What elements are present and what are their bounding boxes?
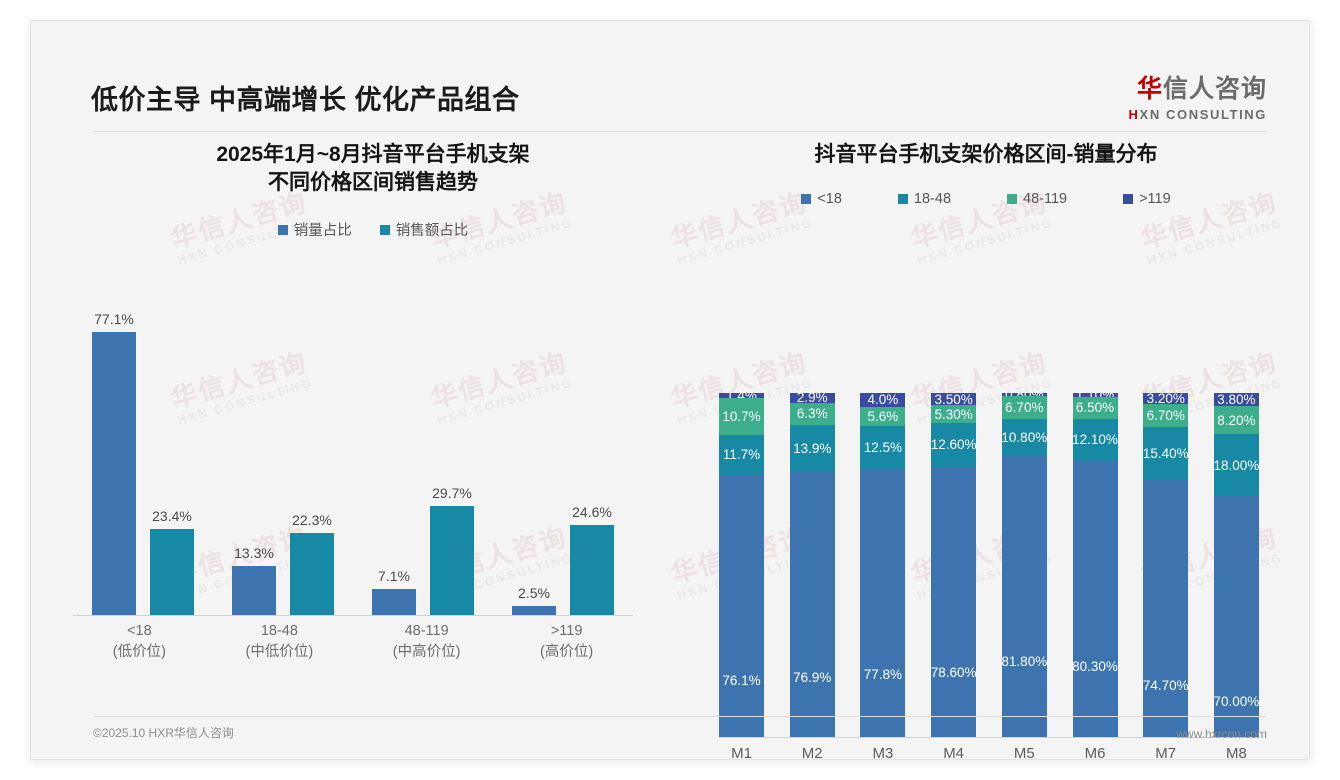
stack-segment[interactable]: 70.00% (1214, 496, 1259, 737)
bar-item[interactable]: 29.7% (430, 485, 474, 615)
stack-segment-label: 4.0% (868, 393, 899, 407)
right-chart-legend: <1818-4848-119>119 (691, 191, 1281, 207)
bar-item[interactable]: 77.1% (92, 311, 136, 615)
stack-segment-label: 12.10% (1073, 432, 1118, 447)
bar-item[interactable]: 13.3% (232, 545, 276, 615)
bar-value-label: 23.4% (152, 508, 192, 524)
legend-swatch-icon (1123, 194, 1133, 204)
stack-segment[interactable]: 11.7% (719, 435, 764, 475)
left-chart-title: 2025年1月~8月抖音平台手机支架 不同价格区间销售趋势 (73, 141, 673, 197)
footer-website[interactable]: www.hxrcon.com (1176, 727, 1267, 741)
stack-segment-label: 77.8% (864, 667, 902, 682)
stack-segment[interactable]: 5.6% (860, 407, 905, 426)
x-axis-label-sub: (中高价位) (393, 642, 461, 663)
slide-header: 低价主导 中高端增长 优化产品组合 华信人咨询 HXN CONSULTING (31, 21, 1309, 113)
x-axis-label: M2 (790, 743, 835, 760)
stack-segment[interactable]: 12.60% (931, 423, 976, 466)
stack-segment[interactable]: 12.5% (860, 426, 905, 469)
left-chart-title-line2: 不同价格区间销售趋势 (113, 169, 633, 197)
stack-segment[interactable]: 13.9% (790, 425, 835, 473)
stack-segment[interactable]: 3.20% (1143, 393, 1188, 404)
bar-value-label: 13.3% (234, 545, 274, 561)
logo-english: HXN CONSULTING (1129, 107, 1267, 122)
grouped-bar-chart: 77.1%23.4%13.3%22.3%7.1%29.7%2.5%24.6% (73, 276, 633, 616)
bar[interactable] (290, 533, 334, 615)
stack-segment-label: 74.70% (1143, 678, 1188, 693)
legend-swatch-icon (898, 194, 908, 204)
stack-segment[interactable]: 76.1% (719, 475, 764, 737)
stack-segment-label: 5.6% (868, 409, 899, 424)
left-chart-title-line1: 2025年1月~8月抖音平台手机支架 (113, 141, 633, 169)
stack-segment[interactable]: 4.0% (860, 393, 905, 407)
bar[interactable] (430, 506, 474, 615)
bar-item[interactable]: 24.6% (570, 504, 614, 615)
legend-item[interactable]: 18-48 (898, 191, 951, 207)
x-axis-line-left (73, 615, 633, 616)
x-axis-label: 48-119(中高价位) (393, 621, 461, 663)
stack-segment-label: 18.00% (1214, 458, 1259, 473)
x-axis-label: M4 (931, 743, 976, 760)
bar-stack[interactable]: 3.80%8.20%18.00%70.00% (1214, 393, 1259, 737)
stack-segment-label: 6.70% (1005, 400, 1043, 415)
x-axis-label-main: 48-119 (393, 621, 461, 642)
legend-label: 销量占比 (294, 219, 352, 240)
bar-stack[interactable]: 4.0%5.6%12.5%77.8% (860, 393, 905, 737)
legend-label: 18-48 (914, 191, 951, 207)
stack-segment[interactable]: 80.30% (1073, 461, 1118, 737)
stack-segment-label: 10.7% (722, 409, 760, 424)
logo-chinese-rest: 信人咨询 (1163, 75, 1267, 103)
stack-segment-label: 8.20% (1217, 413, 1255, 428)
stack-segment-label: 76.9% (793, 670, 831, 685)
x-axis-label-sub: (低价位) (113, 642, 166, 663)
page-title: 低价主导 中高端增长 优化产品组合 (91, 78, 520, 117)
stack-segment-label: 3.80% (1217, 393, 1255, 406)
header-divider (93, 131, 1267, 132)
stack-segment-label: 78.60% (931, 665, 976, 680)
bar-value-label: 7.1% (378, 568, 410, 584)
legend-label: <18 (817, 191, 842, 207)
x-axis-labels-left: <18(低价位)18-48(中低价位)48-119(中高价位)>119(高价位) (73, 621, 633, 663)
bar[interactable] (150, 529, 194, 615)
bar[interactable] (92, 332, 136, 615)
stack-segment[interactable]: 12.10% (1073, 419, 1118, 461)
stack-segment-label: 13.9% (793, 441, 831, 456)
x-axis-label: >119(高价位) (540, 621, 593, 663)
x-axis-label: 18-48(中低价位) (246, 621, 314, 663)
bar[interactable] (232, 566, 276, 615)
stack-segment[interactable]: 8.20% (1214, 406, 1259, 434)
stack-segment[interactable]: 3.50% (931, 393, 976, 405)
stack-segment[interactable]: 5.30% (931, 405, 976, 423)
x-axis-label: M3 (860, 743, 905, 760)
bar-item[interactable]: 22.3% (290, 512, 334, 615)
stack-segment[interactable]: 3.80% (1214, 393, 1259, 406)
bar-stacks: 1.4%10.7%11.7%76.1%2.9%6.3%13.9%76.9%4.0… (719, 393, 1259, 737)
stack-segment-label: 6.70% (1147, 408, 1185, 423)
stack-segment[interactable]: 2.9% (790, 393, 835, 403)
stack-segment[interactable]: 6.50% (1073, 397, 1118, 419)
bar-stack[interactable]: 0.80%6.70%10.80%81.80% (1002, 393, 1047, 737)
stack-segment[interactable]: 78.60% (931, 467, 976, 737)
slide: 低价主导 中高端增长 优化产品组合 华信人咨询 HXN CONSULTING 华… (30, 20, 1310, 760)
x-axis-label: <18(低价位) (113, 621, 166, 663)
legend-item[interactable]: >119 (1123, 191, 1171, 207)
stack-segment-label: 70.00% (1214, 694, 1259, 709)
legend-item[interactable]: 48-119 (1007, 191, 1067, 207)
stack-segment[interactable]: 10.7% (719, 398, 764, 435)
x-axis-label-sub: (中低价位) (246, 642, 314, 663)
stack-segment-label: 2.9% (797, 393, 828, 403)
bar-group: 7.1%29.7% (372, 485, 474, 615)
x-axis-label: M1 (719, 743, 764, 760)
x-axis-label: M7 (1143, 743, 1188, 760)
stack-segment-label: 12.60% (931, 437, 976, 452)
bar-stack[interactable]: 3.20%6.70%15.40%74.70% (1143, 393, 1188, 737)
legend-item[interactable]: 销量占比 (278, 219, 352, 240)
right-chart-panel: 抖音平台手机支架价格区间-销量分布 <1818-4848-119>119 1.4… (691, 141, 1281, 701)
legend-swatch-icon (801, 194, 811, 204)
stack-segment-label: 6.3% (797, 406, 828, 421)
legend-item[interactable]: 销售额占比 (380, 219, 469, 240)
logo-chinese: 华信人咨询 (1129, 77, 1267, 102)
x-axis-label: M6 (1073, 743, 1118, 760)
bar-group: 2.5%24.6% (512, 504, 614, 615)
bar-stack[interactable]: 2.9%6.3%13.9%76.9% (790, 393, 835, 737)
bar-value-label: 24.6% (572, 504, 612, 520)
legend-label: 销售额占比 (396, 219, 469, 240)
bar[interactable] (372, 589, 416, 615)
stack-segment-label: 81.80% (1002, 654, 1047, 669)
stack-segment[interactable]: 6.70% (1002, 396, 1047, 419)
stack-segment-label: 76.1% (722, 673, 760, 688)
legend-swatch-icon (380, 225, 390, 235)
x-axis-label: M8 (1214, 743, 1259, 760)
x-axis-label: M5 (1002, 743, 1047, 760)
bar-stack[interactable]: 1.4%10.7%11.7%76.1% (719, 393, 764, 737)
stack-segment-label: 5.30% (934, 407, 972, 422)
bar-value-label: 22.3% (292, 512, 332, 528)
stack-segment-label: 15.40% (1143, 446, 1188, 461)
legend-label: 48-119 (1023, 191, 1067, 207)
stack-segment-label: 3.50% (934, 393, 972, 405)
x-axis-label-sub: (高价位) (540, 642, 593, 663)
stack-segment[interactable]: 6.3% (790, 403, 835, 425)
x-axis-label-main: >119 (540, 621, 593, 642)
stack-segment[interactable]: 18.00% (1214, 434, 1259, 496)
stack-segment-label: 10.80% (1002, 430, 1047, 445)
x-axis-label-main: 18-48 (246, 621, 314, 642)
legend-swatch-icon (278, 225, 288, 235)
x-axis-labels-right: M1M2M3M4M5M6M7M8 (719, 743, 1259, 760)
stack-segment[interactable]: 10.80% (1002, 419, 1047, 456)
stack-segment-label: 3.20% (1147, 393, 1185, 404)
stack-segment[interactable]: 77.8% (860, 469, 905, 737)
stack-segment-label: 11.7% (723, 447, 760, 462)
right-chart-title: 抖音平台手机支架价格区间-销量分布 (691, 141, 1281, 169)
logo-english-rest: XN CONSULTING (1140, 107, 1267, 122)
stack-segment[interactable]: 81.80% (1002, 456, 1047, 737)
bar-group: 77.1%23.4% (92, 311, 194, 615)
left-chart-legend: 销量占比销售额占比 (73, 219, 673, 240)
logo-chinese-accent: 华 (1137, 75, 1163, 103)
bar-stack[interactable]: 3.50%5.30%12.60%78.60% (931, 393, 976, 737)
footer-divider (93, 716, 1267, 717)
bar-item[interactable]: 7.1% (372, 568, 416, 615)
stack-segment[interactable]: 6.70% (1143, 404, 1188, 427)
bar-stack[interactable]: 1.10%6.50%12.10%80.30% (1073, 393, 1118, 737)
legend-swatch-icon (1007, 194, 1017, 204)
bar-value-label: 2.5% (518, 585, 550, 601)
bar[interactable] (570, 525, 614, 615)
x-axis-label-main: <18 (113, 621, 166, 642)
stack-segment[interactable]: 76.9% (790, 472, 835, 737)
bar[interactable] (512, 606, 556, 615)
legend-label: >119 (1139, 191, 1171, 207)
bar-item[interactable]: 23.4% (150, 508, 194, 615)
bar-item[interactable]: 2.5% (512, 585, 556, 615)
company-logo: 华信人咨询 HXN CONSULTING (1129, 77, 1267, 122)
logo-english-accent: H (1129, 107, 1140, 122)
bar-group: 13.3%22.3% (232, 512, 334, 615)
stack-segment-label: 12.5% (864, 440, 902, 455)
footer-copyright: ©2025.10 HXR华信人咨询 (93, 724, 234, 741)
legend-item[interactable]: <18 (801, 191, 842, 207)
stack-segment-label: 6.50% (1076, 400, 1114, 415)
stack-segment[interactable]: 74.70% (1143, 480, 1188, 737)
bar-value-label: 77.1% (94, 311, 134, 327)
stack-segment-label: 80.30% (1073, 659, 1118, 674)
stack-segment[interactable]: 15.40% (1143, 427, 1188, 480)
stacked-bar-chart: 1.4%10.7%11.7%76.1%2.9%6.3%13.9%76.9%4.0… (719, 393, 1259, 738)
bar-groups: 77.1%23.4%13.3%22.3%7.1%29.7%2.5%24.6% (73, 276, 633, 615)
bar-value-label: 29.7% (432, 485, 472, 501)
